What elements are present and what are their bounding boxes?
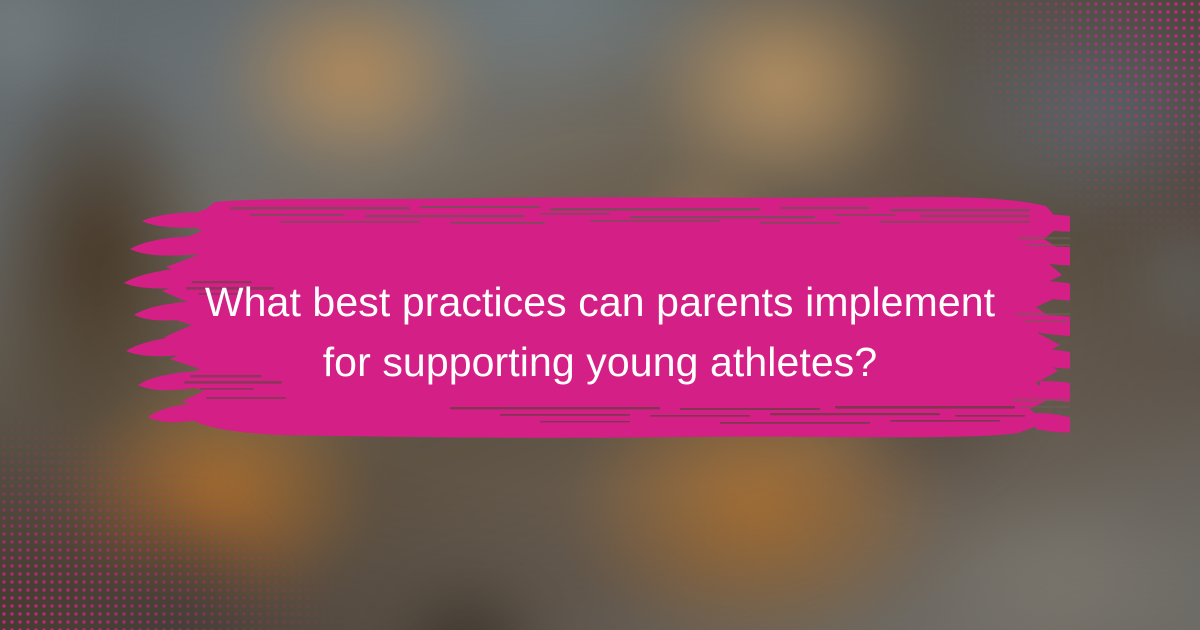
- question-card: What best practices can parents implemen…: [0, 0, 1200, 630]
- page-title: What best practices can parents implemen…: [0, 272, 1200, 392]
